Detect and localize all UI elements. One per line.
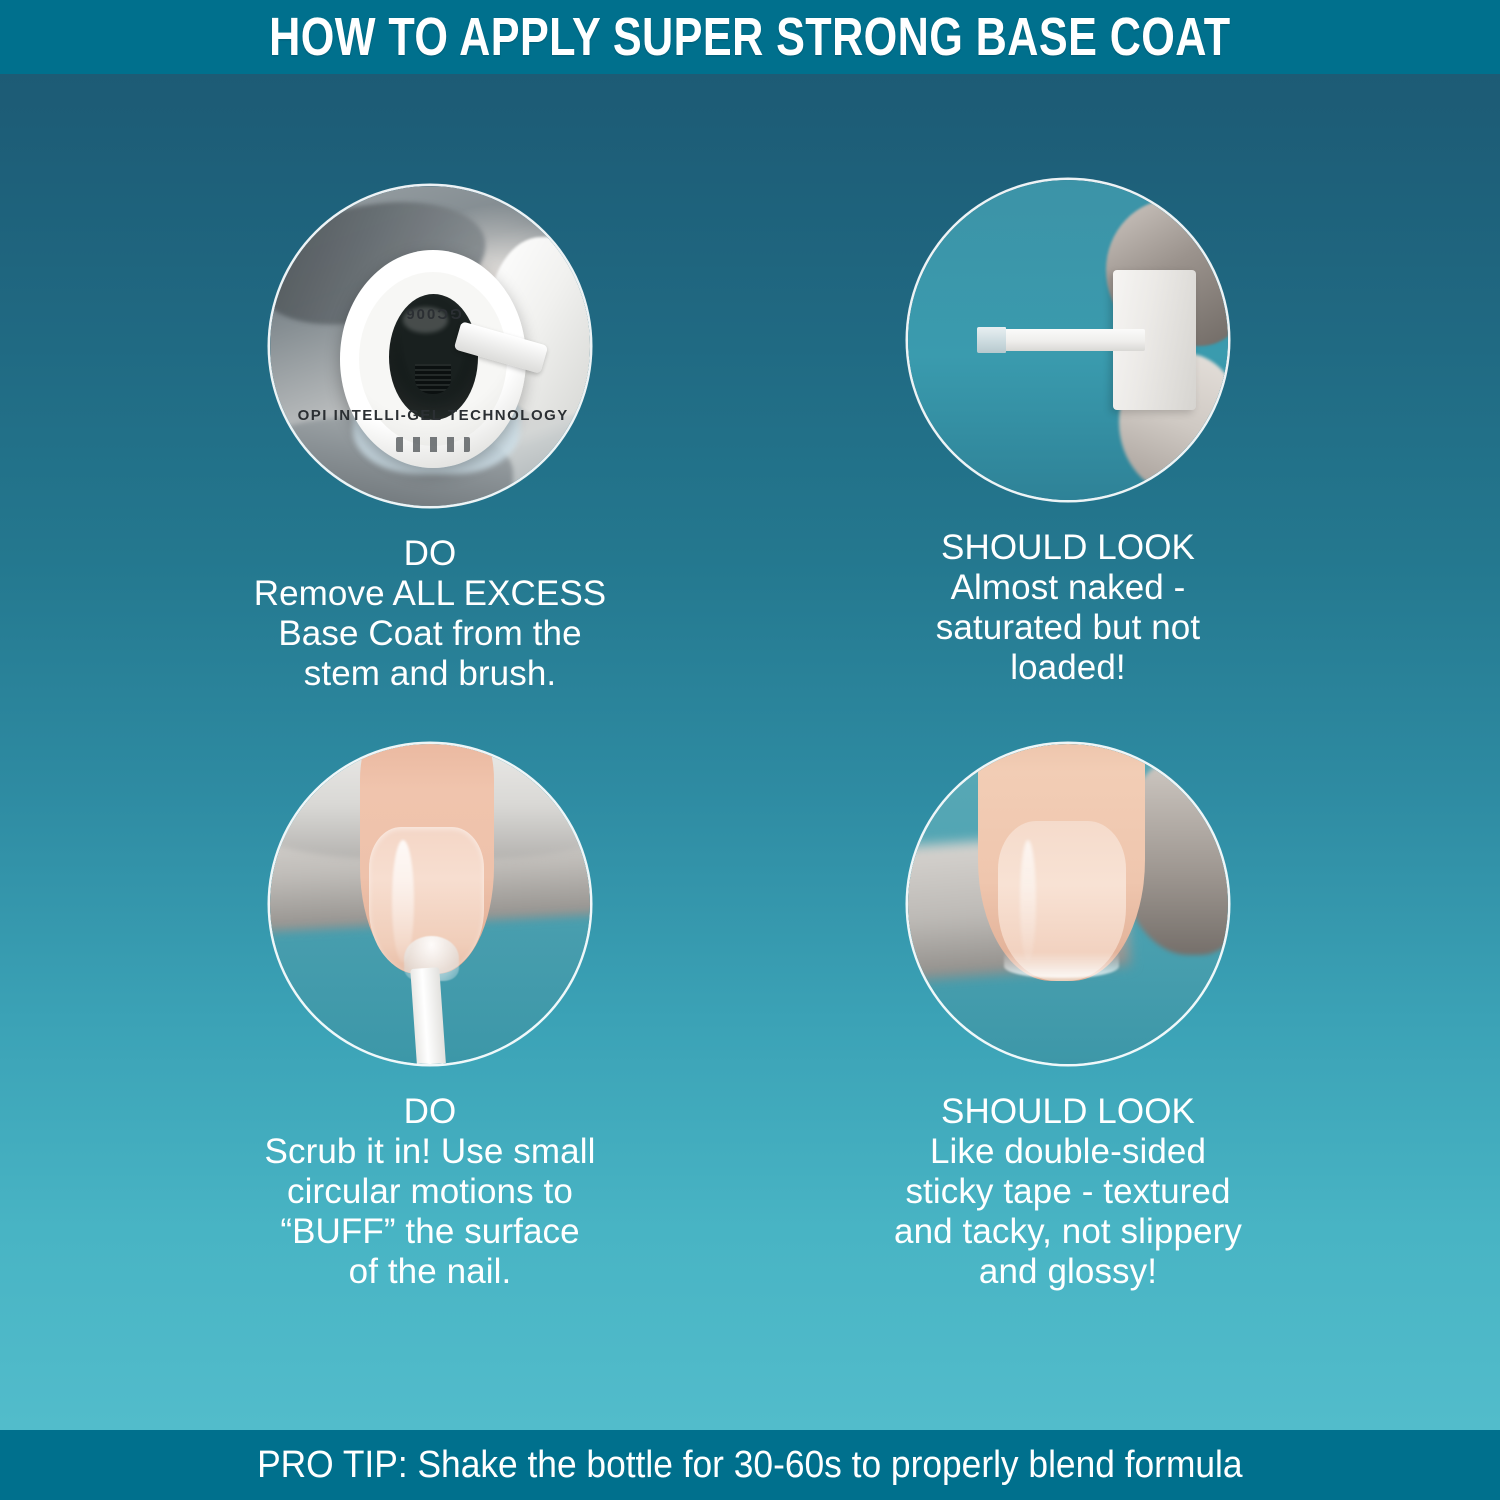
brush-stem [991,329,1145,351]
header-band: HOW TO APPLY SUPER STRONG BASE COAT [0,0,1500,74]
caption-line: stem and brush. [110,654,750,694]
pro-tip-text: PRO TIP: Shake the bottle for 30-60s to … [257,1446,1242,1484]
caption-should-look-almost-naked: SHOULD LOOK Almost naked - saturated but… [748,528,1388,688]
photo-brush-almost-naked [908,180,1228,500]
step-card-do-scrub-it-in: DO Scrub it in! Use small circular motio… [110,744,750,1292]
caption-line: “BUFF” the surface [110,1212,750,1252]
caption-line: Remove ALL EXCESS [110,574,750,614]
page-title: HOW TO APPLY SUPER STRONG BASE COAT [269,10,1230,64]
caption-line: Almost naked - [748,568,1388,608]
footer-band: PRO TIP: Shake the bottle for 30-60s to … [0,1430,1500,1500]
caption-line: sticky tape - textured [748,1172,1388,1212]
caption-line: Scrub it in! Use small [110,1132,750,1172]
caption-line: saturated but not [748,608,1388,648]
step-card-do-remove-excess: GC006 OPI INTELLI-GEL TECHNOLOGY DO Remo… [110,186,750,694]
caption-heading: DO [110,1092,750,1132]
caption-line: loaded! [748,648,1388,688]
bottle-cap-ridges [396,437,470,452]
caption-heading: SHOULD LOOK [748,1092,1388,1132]
caption-heading: SHOULD LOOK [748,528,1388,568]
brand-technology-label: OPI INTELLI-GEL TECHNOLOGY [298,407,569,424]
photo-finished-tacky-nail [908,744,1228,1064]
product-code-label: GC006 [404,305,462,322]
photo-gel-bottle-top: GC006 OPI INTELLI-GEL TECHNOLOGY [270,186,590,506]
photo-nail-being-buffed [270,744,590,1064]
caption-line: Like double-sided [748,1132,1388,1172]
brush-bristles [977,327,1006,354]
caption-heading: DO [110,534,750,574]
step-card-should-look-almost-naked: SHOULD LOOK Almost naked - saturated but… [748,180,1388,688]
step-card-should-look-sticky-tape: SHOULD LOOK Like double-sided sticky tap… [748,744,1388,1292]
steps-grid: GC006 OPI INTELLI-GEL TECHNOLOGY DO Remo… [0,74,1500,1430]
caption-line: of the nail. [110,1252,750,1292]
caption-line: circular motions to [110,1172,750,1212]
caption-do-scrub-it-in: DO Scrub it in! Use small circular motio… [110,1092,750,1292]
nail-free-edge [1004,952,1119,978]
caption-do-remove-excess: DO Remove ALL EXCESS Base Coat from the … [110,534,750,694]
nail-highlight [1020,840,1036,962]
caption-line: and glossy! [748,1252,1388,1292]
caption-line: and tacky, not slippery [748,1212,1388,1252]
caption-should-look-sticky-tape: SHOULD LOOK Like double-sided sticky tap… [748,1092,1388,1292]
caption-line: Base Coat from the [110,614,750,654]
infographic-root: HOW TO APPLY SUPER STRONG BASE COAT [0,0,1500,1500]
bottle-thread [415,364,451,394]
